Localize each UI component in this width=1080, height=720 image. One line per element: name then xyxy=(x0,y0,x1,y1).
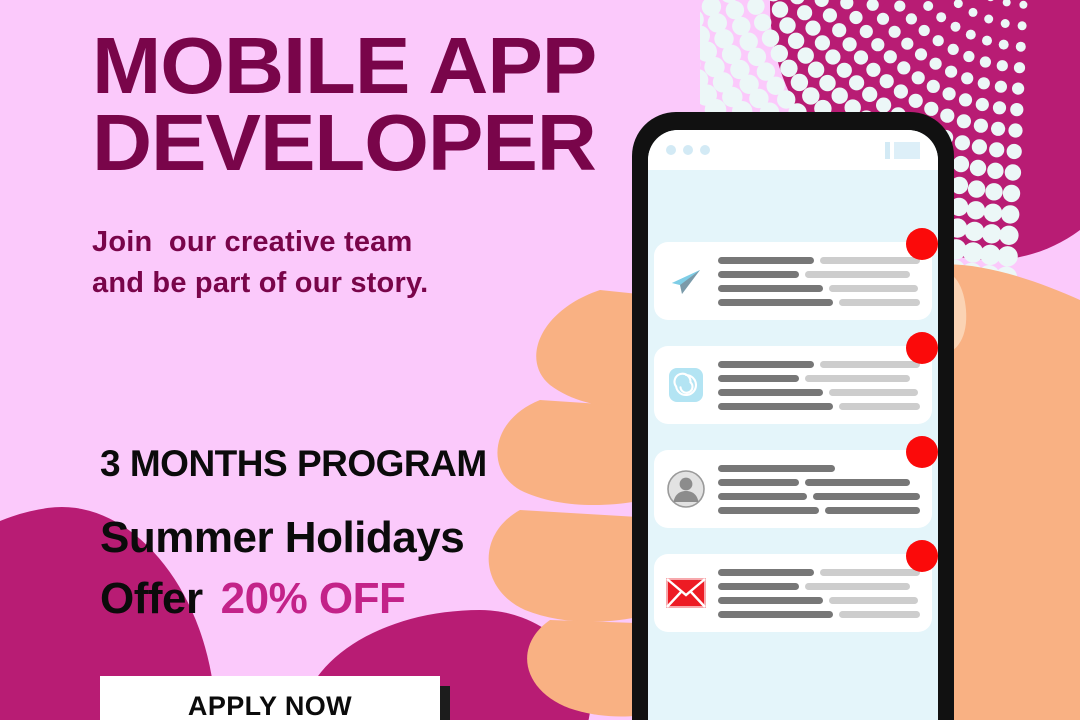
text-placeholder-bar xyxy=(829,389,918,396)
text-placeholder-bar xyxy=(820,569,920,576)
status-dot xyxy=(700,145,710,155)
text-line xyxy=(718,257,920,264)
text-line xyxy=(718,389,920,396)
text-line xyxy=(718,507,920,514)
status-right-icons xyxy=(885,142,920,159)
unread-badge xyxy=(906,436,938,468)
notification-card[interactable] xyxy=(654,554,932,632)
paper-plane-icon xyxy=(666,261,706,301)
spiral-icon-tile xyxy=(669,368,703,402)
apply-now-button[interactable]: APPLY NOW xyxy=(100,676,440,720)
text-line xyxy=(718,285,920,292)
text-line xyxy=(718,403,920,410)
text-placeholder-bar xyxy=(718,361,814,368)
text-line xyxy=(718,569,920,576)
status-dots xyxy=(666,145,710,155)
text-line xyxy=(718,299,920,306)
text-placeholder-bar xyxy=(718,257,814,264)
notification-list xyxy=(648,170,938,632)
text-placeholder-bar xyxy=(718,271,799,278)
text-placeholder-bar xyxy=(718,597,823,604)
text-placeholder-bar xyxy=(813,493,920,500)
battery-icon xyxy=(894,142,920,159)
program-duration-label: 3 MONTHS PROGRAM xyxy=(100,443,487,485)
phone-mockup xyxy=(632,112,954,720)
text-line xyxy=(718,583,920,590)
text-placeholder-bar xyxy=(718,285,823,292)
text-line xyxy=(718,375,920,382)
text-placeholder-bar xyxy=(805,479,910,486)
text-placeholder-bar xyxy=(839,403,920,410)
text-placeholder-bar xyxy=(718,569,814,576)
text-placeholder-bar xyxy=(820,361,920,368)
envelope-icon xyxy=(666,573,706,613)
text-placeholder-bar xyxy=(718,465,835,472)
headline-line-1: MOBILE APP xyxy=(92,28,654,105)
unread-badge xyxy=(906,228,938,260)
text-placeholder-bar xyxy=(718,479,799,486)
text-placeholder-bar xyxy=(718,375,799,382)
text-placeholder-bar xyxy=(718,493,807,500)
text-placeholder-bar xyxy=(839,299,920,306)
notification-text-lines xyxy=(718,569,920,618)
phone-screen xyxy=(648,130,938,720)
notification-text-lines xyxy=(718,465,920,514)
text-placeholder-bar xyxy=(718,403,833,410)
text-line xyxy=(718,271,920,278)
notification-card[interactable] xyxy=(654,450,932,528)
notification-text-lines xyxy=(718,257,920,306)
spiral-icon xyxy=(666,365,706,405)
text-placeholder-bar xyxy=(825,507,920,514)
text-line xyxy=(718,465,920,472)
subheadline: Join our creative team and be part of ou… xyxy=(92,222,632,304)
text-placeholder-bar xyxy=(829,285,918,292)
status-dot xyxy=(683,145,693,155)
status-dot xyxy=(666,145,676,155)
text-line xyxy=(718,611,920,618)
text-placeholder-bar xyxy=(718,611,833,618)
notification-text-lines xyxy=(718,361,920,410)
text-placeholder-bar xyxy=(718,389,823,396)
poster-canvas: MOBILE APP DEVELOPER Join our creative t… xyxy=(0,0,1080,720)
text-placeholder-bar xyxy=(718,507,819,514)
text-placeholder-bar xyxy=(805,375,910,382)
text-placeholder-bar xyxy=(839,611,920,618)
page-title: MOBILE APP DEVELOPER xyxy=(92,28,654,182)
headline-line-2: DEVELOPER xyxy=(92,105,654,182)
status-bar xyxy=(648,130,938,170)
unread-badge xyxy=(906,540,938,572)
offer-block: Summer HolidaysOffer20% OFF xyxy=(100,508,464,629)
discount-badge: 20% OFF xyxy=(221,574,406,623)
text-placeholder-bar xyxy=(718,583,799,590)
notification-card[interactable] xyxy=(654,242,932,320)
text-line xyxy=(718,479,920,486)
text-placeholder-bar xyxy=(829,597,918,604)
text-block: MOBILE APP DEVELOPER Join our creative t… xyxy=(92,28,632,304)
signal-bar-icon xyxy=(885,142,890,159)
text-line xyxy=(718,493,920,500)
unread-badge xyxy=(906,332,938,364)
notification-card[interactable] xyxy=(654,346,932,424)
text-placeholder-bar xyxy=(718,299,833,306)
text-line xyxy=(718,361,920,368)
user-avatar-icon xyxy=(666,469,706,509)
text-line xyxy=(718,597,920,604)
text-placeholder-bar xyxy=(805,583,910,590)
text-placeholder-bar xyxy=(805,271,910,278)
text-placeholder-bar xyxy=(820,257,920,264)
